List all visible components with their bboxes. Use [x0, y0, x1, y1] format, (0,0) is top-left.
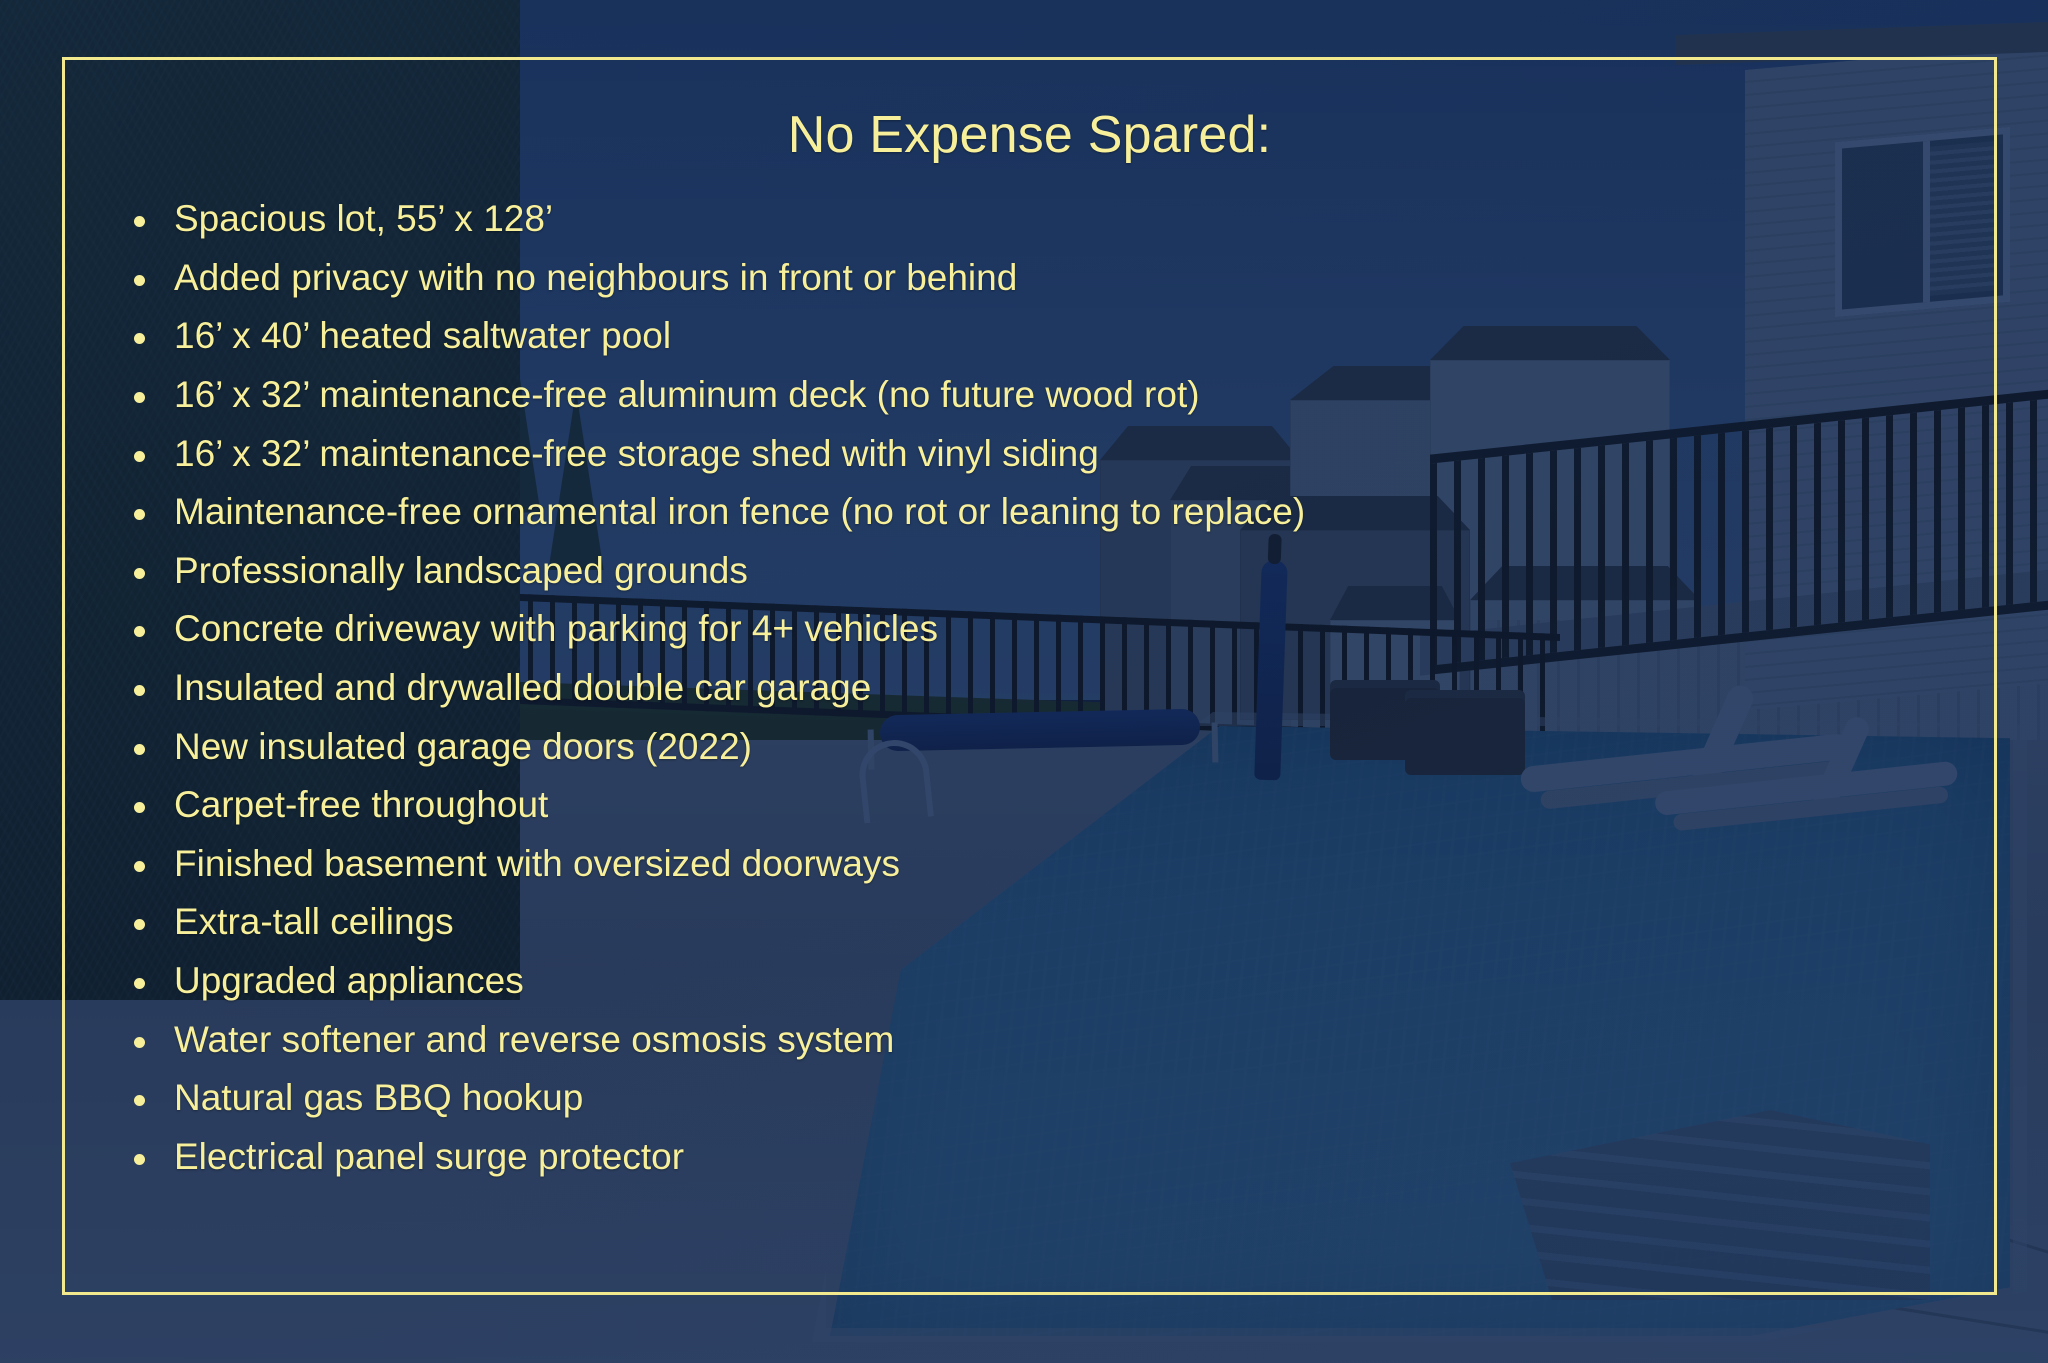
feature-list-item: 16’ x 40’ heated saltwater pool	[124, 307, 1957, 366]
feature-list-item: Extra-tall ceilings	[124, 893, 1957, 952]
feature-list-item: Maintenance-free ornamental iron fence (…	[124, 483, 1957, 542]
feature-list-item: Upgraded appliances	[124, 952, 1957, 1011]
feature-list-item: Electrical panel surge protector	[124, 1128, 1957, 1187]
slide-content: No Expense Spared: Spacious lot, 55’ x 1…	[62, 57, 1997, 1295]
feature-list-item: 16’ x 32’ maintenance-free aluminum deck…	[124, 366, 1957, 425]
feature-list-item: Concrete driveway with parking for 4+ ve…	[124, 600, 1957, 659]
feature-list-item: New insulated garage doors (2022)	[124, 718, 1957, 777]
feature-list-item: Finished basement with oversized doorway…	[124, 835, 1957, 894]
feature-list-item: Natural gas BBQ hookup	[124, 1069, 1957, 1128]
feature-list-item: Insulated and drywalled double car garag…	[124, 659, 1957, 718]
feature-list-item: Added privacy with no neighbours in fron…	[124, 249, 1957, 308]
feature-list-item: 16’ x 32’ maintenance-free storage shed …	[124, 425, 1957, 484]
feature-list-item: Water softener and reverse osmosis syste…	[124, 1011, 1957, 1070]
feature-list-item: Professionally landscaped grounds	[124, 542, 1957, 601]
features-list: Spacious lot, 55’ x 128’Added privacy wi…	[124, 190, 1957, 1186]
slide: No Expense Spared: Spacious lot, 55’ x 1…	[0, 0, 2048, 1363]
page-title: No Expense Spared:	[102, 107, 1957, 164]
feature-list-item: Spacious lot, 55’ x 128’	[124, 190, 1957, 249]
feature-list-item: Carpet-free throughout	[124, 776, 1957, 835]
